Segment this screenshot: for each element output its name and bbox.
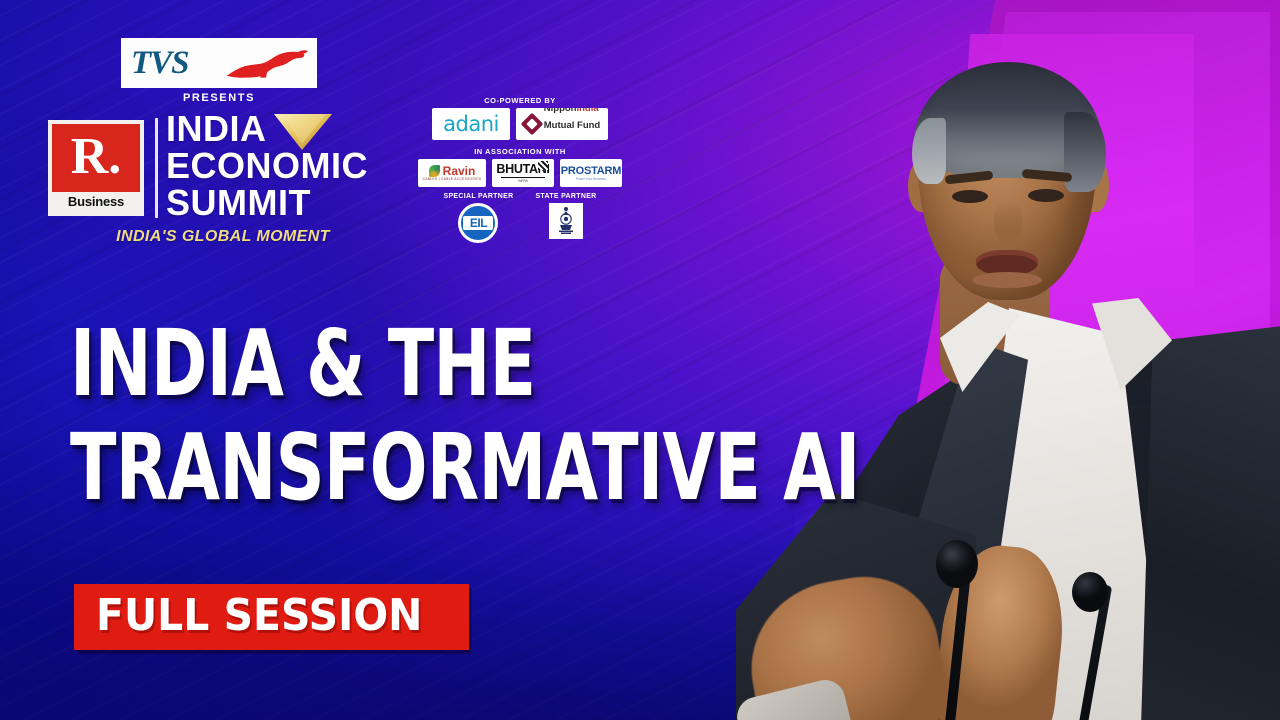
- headline-block: INDIA & THE TRANSFORMATIVE AI: [70, 312, 770, 520]
- microphone-head-primary: [936, 540, 978, 588]
- nippon-diamond-icon: [520, 113, 543, 136]
- state-partner-label: STATE PARTNER: [535, 193, 596, 200]
- adani-wordmark-icon: adani: [443, 114, 499, 135]
- nippon-line-1: Nipponindia: [544, 108, 599, 114]
- ravin-subtitle: CABLES | CABLE ACCESSORIES: [423, 177, 482, 181]
- event-title-line-3: SUMMIT: [166, 184, 406, 221]
- sponsor-block: CO-POWERED BY adani Nipponindia Mutual F…: [412, 96, 628, 243]
- headline-line-2: TRANSFORMATIVE AI: [70, 416, 588, 520]
- sponsor-logo-adani: adani: [432, 108, 510, 140]
- republic-business-logo: R. Business: [48, 120, 144, 216]
- special-partner-label: SPECIAL PARTNER: [443, 193, 513, 200]
- tvs-wordmark: TVS: [131, 47, 189, 80]
- broadcast-thumbnail: TVS PRESENTS R. Business INDIA ECONOMIC …: [0, 0, 1280, 720]
- logo-divider: [155, 118, 158, 218]
- state-partner-block: STATE PARTNER: [535, 193, 596, 243]
- prostarm-subtitle: Power Your Business: [576, 177, 606, 181]
- speaker-jacket-right: [1140, 324, 1280, 720]
- tvs-logo: TVS: [121, 38, 317, 88]
- special-partner-block: SPECIAL PARTNER EIL: [443, 193, 513, 243]
- state-partner-logo: [549, 203, 583, 239]
- presents-label: PRESENTS: [121, 92, 317, 104]
- headline-line-1: INDIA & THE: [70, 312, 588, 416]
- speaker-nose: [994, 200, 1022, 246]
- ravin-wordmark: Ravin: [443, 165, 476, 177]
- eil-wordmark: EIL: [470, 216, 487, 230]
- association-label: IN ASSOCIATION WITH: [412, 147, 628, 156]
- bhutani-checker-icon: [538, 161, 548, 170]
- event-tagline: INDIA'S GLOBAL MOMENT: [92, 228, 354, 246]
- gold-chevron-icon: [272, 112, 334, 152]
- nippon-line-2: Mutual Fund: [544, 120, 600, 131]
- event-title-line-2: ECONOMIC: [166, 147, 406, 184]
- speaker-eye-left: [952, 190, 988, 203]
- speaker-eye-right: [1028, 189, 1064, 202]
- full-session-label: FULL SESSION: [96, 593, 422, 639]
- eil-badge-icon: EIL: [458, 203, 498, 243]
- partners-row: SPECIAL PARTNER EIL STATE PARTNER: [412, 193, 628, 243]
- co-powered-row: adani Nipponindia Mutual Fund Wealth set…: [412, 108, 628, 140]
- tvs-horse-icon: [221, 46, 309, 80]
- ravin-leaf-icon: [429, 165, 440, 177]
- speaker-chin: [972, 272, 1042, 288]
- sponsor-logo-nippon-india-mutual-fund: Nipponindia Mutual Fund Wealth sets you …: [516, 108, 608, 140]
- bhutani-rule: [501, 177, 545, 178]
- republic-mark: R.: [52, 124, 140, 192]
- sponsor-logo-bhutani: BHUTANI INFRA: [492, 159, 554, 187]
- bhutani-subtitle: INFRA: [518, 179, 528, 183]
- state-emblem-icon: [554, 206, 578, 236]
- sponsor-logo-ravin: Ravin CABLES | CABLE ACCESSORIES: [418, 159, 486, 187]
- co-powered-label: CO-POWERED BY: [412, 96, 628, 105]
- sponsor-logo-prostarm: PROSTARM Power Your Business: [560, 159, 622, 187]
- speaker-hair-left: [912, 118, 946, 184]
- full-session-badge: FULL SESSION: [74, 584, 469, 650]
- republic-business-label: Business: [52, 192, 140, 212]
- prostarm-wordmark: PROSTARM: [561, 166, 622, 177]
- republic-letter: R.: [71, 131, 122, 183]
- association-row: Ravin CABLES | CABLE ACCESSORIES BHUTANI…: [412, 159, 628, 187]
- microphone-head-secondary: [1072, 572, 1108, 612]
